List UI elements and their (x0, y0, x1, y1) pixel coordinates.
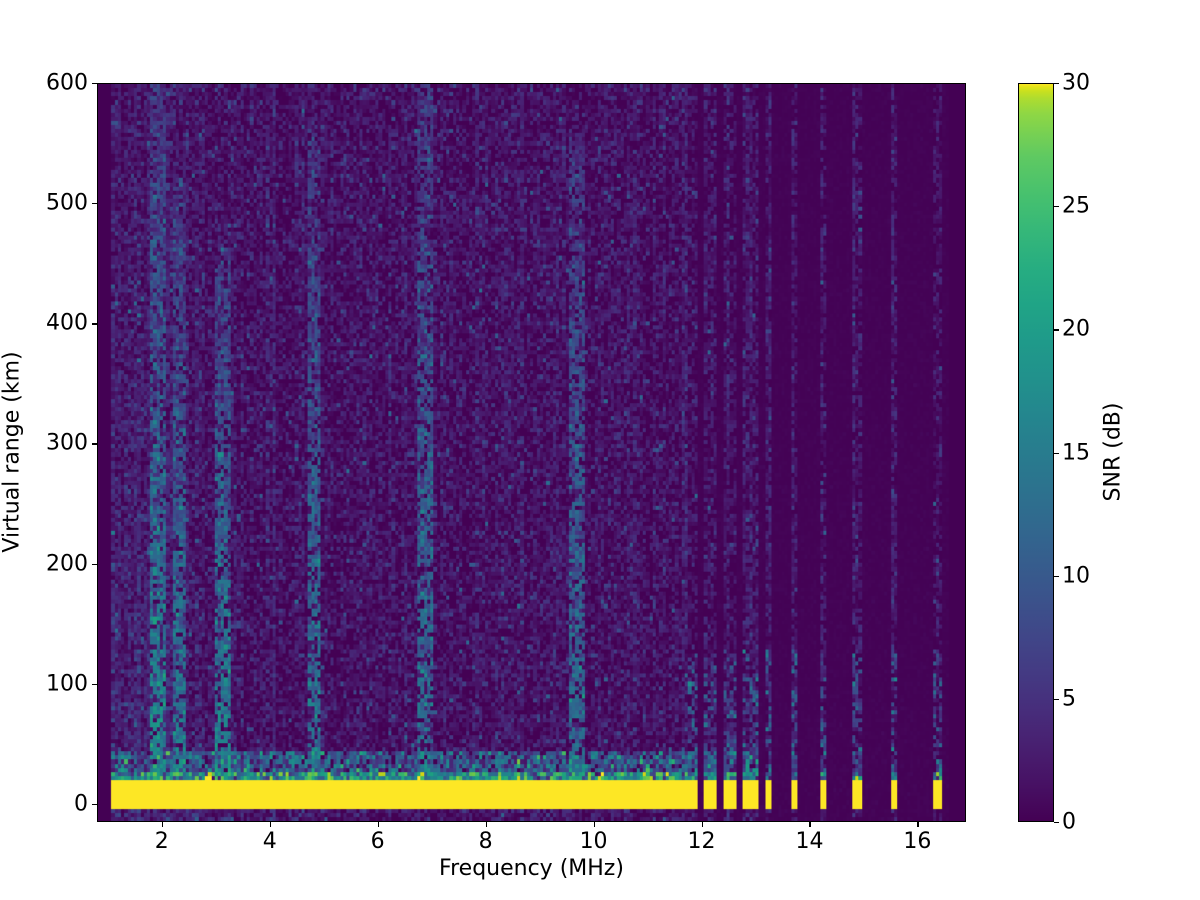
x-tick-label-2: 2 (155, 829, 169, 854)
colorbar-title: SNR (dB) (1101, 403, 1126, 502)
x-tick-label-8: 8 (479, 829, 493, 854)
colorbar[interactable] (1018, 83, 1054, 822)
colorbar-tick-0 (1054, 822, 1059, 823)
colorbar-tick-20 (1054, 329, 1059, 330)
colorbar-tick-label-10: 10 (1062, 563, 1090, 588)
y-tick-500 (92, 203, 97, 204)
y-tick-0 (92, 804, 97, 805)
y-tick-100 (92, 684, 97, 685)
colorbar-tick-label-20: 20 (1062, 317, 1090, 342)
x-tick-14 (809, 822, 810, 827)
ionogram-plot-area[interactable] (97, 83, 966, 822)
y-tick-label-100: 100 (46, 671, 88, 696)
y-tick-300 (92, 443, 97, 444)
x-tick-2 (162, 822, 163, 827)
x-tick-16 (917, 822, 918, 827)
colorbar-tick-25 (1054, 206, 1059, 207)
x-axis-title: Frequency (MHz) (97, 856, 966, 881)
colorbar-tick-label-15: 15 (1062, 440, 1090, 465)
x-tick-label-16: 16 (903, 829, 931, 854)
y-tick-600 (92, 83, 97, 84)
y-tick-label-0: 0 (74, 791, 88, 816)
x-tick-6 (378, 822, 379, 827)
x-tick-label-10: 10 (580, 829, 608, 854)
colorbar-tick-label-0: 0 (1062, 810, 1076, 835)
ionogram-heatmap-canvas (98, 84, 965, 821)
x-tick-label-4: 4 (263, 829, 277, 854)
colorbar-tick-30 (1054, 83, 1059, 84)
ionogram-figure: IRF Uppsala SDR Ionosonde UP158 2025-11-… (0, 0, 1200, 900)
y-axis-title: Virtual range (km) (0, 351, 25, 552)
y-tick-400 (92, 323, 97, 324)
x-tick-label-12: 12 (688, 829, 716, 854)
y-tick-label-200: 200 (46, 551, 88, 576)
x-tick-12 (702, 822, 703, 827)
colorbar-tick-label-30: 30 (1062, 71, 1090, 96)
colorbar-tick-15 (1054, 453, 1059, 454)
colorbar-tick-5 (1054, 699, 1059, 700)
colorbar-tick-label-5: 5 (1062, 686, 1076, 711)
colorbar-gradient (1018, 83, 1054, 822)
x-tick-label-6: 6 (371, 829, 385, 854)
colorbar-tick-label-25: 25 (1062, 194, 1090, 219)
y-tick-200 (92, 564, 97, 565)
x-tick-8 (486, 822, 487, 827)
x-tick-label-14: 14 (795, 829, 823, 854)
y-tick-label-400: 400 (46, 311, 88, 336)
y-tick-label-300: 300 (46, 431, 88, 456)
y-tick-label-600: 600 (46, 71, 88, 96)
colorbar-tick-10 (1054, 576, 1059, 577)
x-tick-4 (270, 822, 271, 827)
x-tick-10 (594, 822, 595, 827)
y-tick-label-500: 500 (46, 191, 88, 216)
